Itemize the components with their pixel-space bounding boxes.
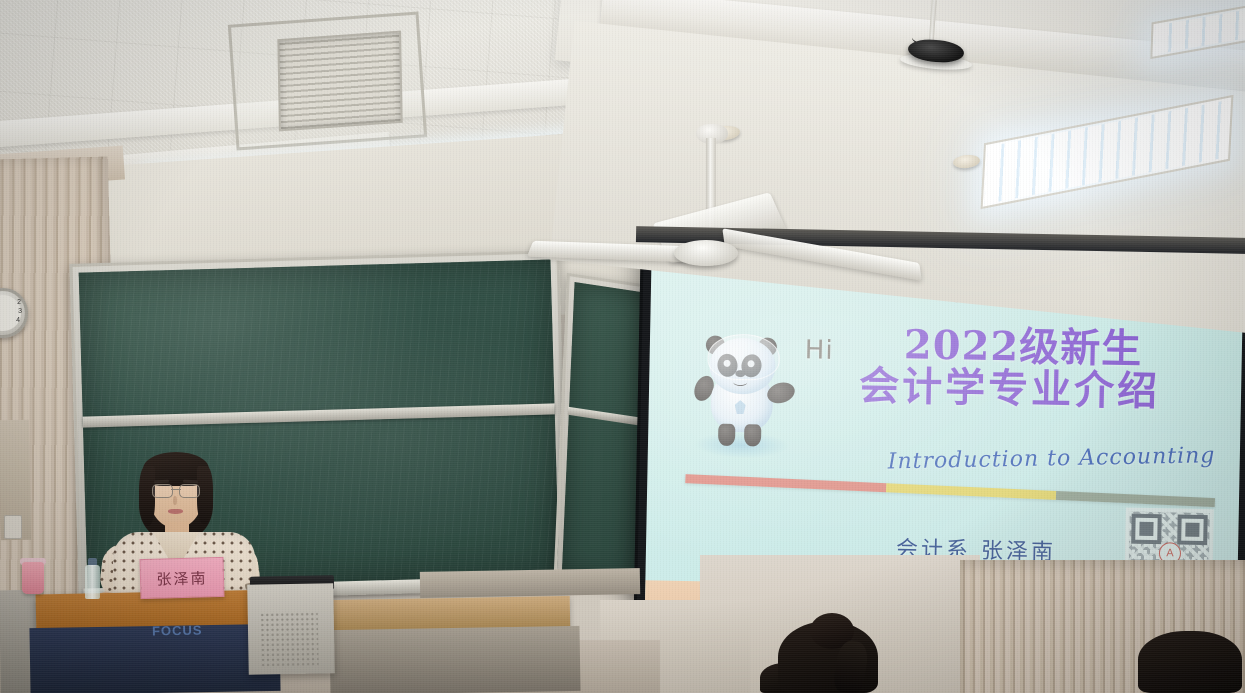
divider-segment-red [685, 474, 887, 492]
wall-switch-plate [4, 515, 22, 539]
mascot-leg [744, 424, 761, 446]
clock-numeral: 2 [17, 299, 21, 306]
ceiling-fan-hub [674, 240, 738, 266]
divider-segment-yellow [886, 483, 1056, 500]
classroom-photo: 2 3 4 [0, 0, 1245, 693]
qr-finder-pattern [1177, 514, 1208, 545]
mascot-shell [707, 333, 780, 380]
name-card: 张泽南 [139, 557, 224, 599]
mascot-shadow [694, 431, 790, 459]
slide-divider-bar [685, 474, 1215, 507]
front-desk-body [329, 626, 580, 693]
water-bottle-icon [85, 565, 100, 599]
clock-numeral: 3 [18, 308, 22, 315]
podium-brand-label: FOCUS [152, 623, 203, 639]
slide-subtitle-english: Introduction to Accounting [888, 443, 1228, 475]
name-card-text: 张泽南 [156, 567, 208, 589]
podium-console [247, 583, 335, 674]
lecturer-mouth [168, 509, 183, 514]
mascot-leg [718, 424, 735, 446]
clock-numeral: 4 [16, 317, 20, 324]
qr-finder-pattern [1131, 514, 1162, 545]
divider-segment-green [1056, 491, 1215, 507]
lecturer-glasses-icon [152, 484, 200, 497]
console-speaker-grille [260, 612, 319, 667]
background-desk [420, 568, 640, 598]
pink-cup-icon [22, 562, 44, 594]
air-vent-icon [277, 31, 402, 132]
panda-mascot-icon [686, 327, 798, 459]
slide-title-block: 2022级新生 会计学专业介绍 [859, 324, 1231, 416]
student-head [1138, 631, 1242, 693]
slide-title-line-2: 会计学专业介绍 [859, 364, 1230, 416]
lecturer-nose [173, 496, 177, 505]
mascot-greeting-text: Hi [805, 335, 834, 366]
